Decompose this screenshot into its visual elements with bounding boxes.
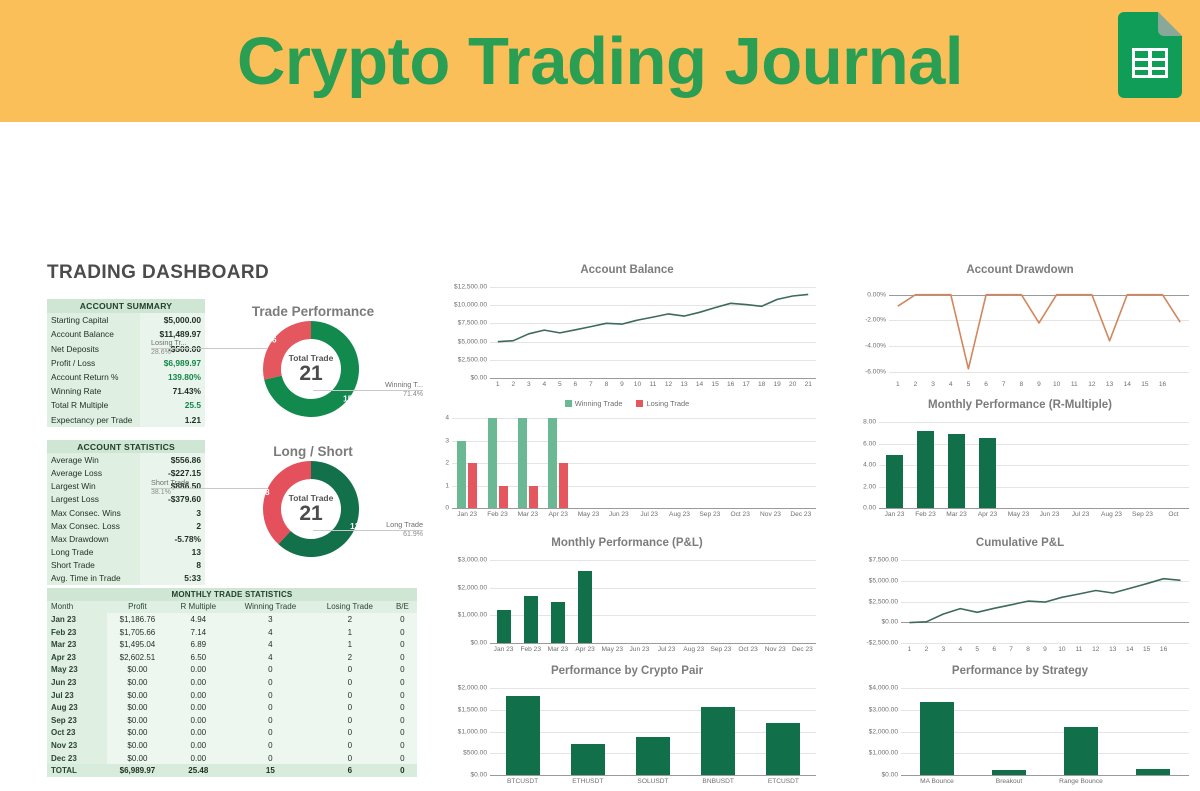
x-axis-label: 6 [984,381,988,388]
table-cell: $0.00 [107,664,168,677]
table-cell: 0.00 [168,689,229,702]
x-axis-label: May 23 [601,646,623,653]
table-cell: 0 [312,739,388,752]
table-row: May 23$0.000.00000 [47,664,417,677]
table-row: Nov 23$0.000.00000 [47,739,417,752]
chart-title: Monthly Performance (R-Multiple) [845,399,1195,411]
plot-area: $0.00$1,000.00$2,000.00$3,000.00Jan 23Fe… [490,560,816,643]
y-axis-label: $4,000.00 [869,685,901,692]
donut-chart: 156 Total Trade 21 [263,321,359,417]
row-value: $6,989.97 [140,356,205,370]
x-axis-label: 9 [620,381,624,388]
long-short-donut: Long / Short 138 Total Trade 21 Short Tr… [213,444,413,557]
row-label: Average Loss [47,466,140,479]
y-axis-label: 6.00 [863,440,879,447]
trade-performance-donut: Trade Performance 156 Total Trade 21 Los… [213,304,413,417]
x-axis-label: Dec 23 [792,646,813,653]
table-cell: Oct 23 [47,727,107,740]
y-axis-label: 4 [445,415,452,422]
gridline [452,508,816,509]
table-cell: Jul 23 [47,689,107,702]
table-cell: 0 [312,664,388,677]
x-axis-label: 20 [789,381,796,388]
bar [518,418,527,508]
plot-area: 01234Jan 23Feb 23Mar 23Apr 23May 23Jun 2… [452,418,816,508]
x-axis-label: Aug 23 [683,646,704,653]
total-cell: 6 [312,764,388,777]
table-cell: 6.50 [168,651,229,664]
row-label: Average Win [47,453,140,466]
table-cell: 7.14 [168,626,229,639]
x-axis-label: Range Bounce [1059,778,1103,785]
table-row: Total R Multiple 25.5 [47,398,205,412]
table-total-row: TOTAL$6,989.9725.481560 [47,764,417,777]
total-cell: 25.48 [168,764,229,777]
x-axis-label: 8 [1020,381,1024,388]
table-cell: Aug 23 [47,701,107,714]
x-axis-label: 15 [1143,646,1150,653]
table-title-row: ACCOUNT STATISTICS [47,440,205,453]
table-row: Long Trade 13 [47,546,205,559]
table-cell: $0.00 [107,752,168,765]
x-axis-label: ETCUSDT [768,778,799,785]
x-axis-label: Apr 23 [548,511,567,518]
table-cell: $1,495.04 [107,638,168,651]
bar [920,702,954,775]
x-axis-label: Jan 23 [885,511,905,518]
dashboard-heading: TRADING DASHBOARD [47,262,269,284]
callout-percent: 71.4% [403,391,423,398]
table-row: Aug 23$0.000.00000 [47,701,417,714]
table-cell: 0 [229,701,312,714]
table-cell: 0 [312,714,388,727]
x-axis-label: Jan 23 [494,646,514,653]
x-axis-label: Sep 23 [710,646,731,653]
table-cell: 0.00 [168,739,229,752]
monthly-stats-body: MONTHLY TRADE STATISTICSMonthProfitR Mul… [47,588,417,777]
table-cell: 0.00 [168,701,229,714]
gridline [452,441,816,442]
chart-title: Trade Performance [213,304,413,319]
account-summary-title: ACCOUNT SUMMARY [47,299,205,313]
x-axis-label: 7 [589,381,593,388]
x-axis-label: Jul 23 [640,511,658,518]
x-axis-label: 5 [558,381,562,388]
table-cell: 0 [312,727,388,740]
table-cell: 0.00 [168,664,229,677]
table-cell: 0 [229,676,312,689]
x-axis-label: 7 [1009,646,1013,653]
table-row: Oct 23$0.000.00000 [47,727,417,740]
x-axis-label: BTCUSDT [507,778,538,785]
table-cell: $0.00 [107,676,168,689]
y-axis-label: 0 [445,505,452,512]
column-header: Winning Trade [229,601,312,614]
table-cell: $2,602.51 [107,651,168,664]
table-row: Max Drawdown -5.78% [47,532,205,545]
donut-center-value: 21 [299,503,322,525]
table-cell: May 23 [47,664,107,677]
x-axis-label: SOLUSDT [637,778,668,785]
row-label: Net Deposits [47,342,140,356]
table-cell: $1,186.76 [107,613,168,626]
legend-swatch [565,400,572,407]
bar [948,434,964,508]
y-axis-label: $1,000.00 [458,728,490,735]
row-value: 8 [140,559,205,572]
y-axis-label: $5,000.00 [869,577,901,584]
gridline [490,775,816,776]
table-row: Expectancy per Trade 1.21 [47,413,205,427]
y-axis-label: $0.00 [470,772,490,779]
x-axis-label: 3 [931,381,935,388]
x-axis-label: 14 [1124,381,1131,388]
bar [636,737,670,775]
table-cell: 0 [312,701,388,714]
row-label: Max Consec. Loss [47,519,140,532]
header-banner: Crypto Trading Journal [0,0,1200,122]
bar [457,441,466,509]
x-axis-label: Aug 23 [669,511,690,518]
donut-callout-left: Losing Tr... 28.6% [151,338,209,358]
y-axis-label: 3 [445,437,452,444]
table-cell: 1 [312,638,388,651]
y-axis-label: $5,000.00 [458,338,490,345]
row-label: Max Consec. Wins [47,506,140,519]
row-label: Account Balance [47,327,140,341]
x-axis-label: May 23 [578,511,600,518]
x-axis-label: Mar 23 [548,646,569,653]
table-cell: 0 [388,626,417,639]
callout-leader-line [313,390,363,391]
x-axis-label: Oct 23 [730,511,749,518]
gridline [901,643,1189,644]
y-axis-label: $1,000.00 [458,612,490,619]
x-axis-label: 13 [1106,381,1113,388]
y-axis-label: $2,500.00 [869,598,901,605]
x-axis-label: Jul 23 [1072,511,1090,518]
x-axis-label: 1 [496,381,500,388]
table-row: Feb 23$1,705.667.14410 [47,626,417,639]
monthly-stats-title: MONTHLY TRADE STATISTICS [47,588,417,601]
legend-item: Winning Trade [565,399,623,408]
y-axis-label: $10,000.00 [454,302,490,309]
row-value: 25.5 [140,398,205,412]
row-value: 1.21 [140,413,205,427]
y-axis-label: $0.00 [470,375,490,382]
bar [917,431,933,508]
table-cell: 0 [388,701,417,714]
table-cell: 0.00 [168,752,229,765]
table-cell: Dec 23 [47,752,107,765]
y-axis-label: $3,000.00 [869,706,901,713]
cumulative-pl-chart: Cumulative P&L-$2,500.00$0.00$2,500.00$5… [845,537,1195,659]
chart-title: Performance by Crypto Pair [432,665,822,677]
table-cell: 2 [312,651,388,664]
row-value: 71.43% [140,384,205,398]
donut-center: Total Trade 21 [263,321,359,417]
gridline [490,588,816,589]
y-axis-label: -6.00% [865,368,889,375]
x-axis-label: 16 [727,381,734,388]
plot-area: 0.002.004.006.008.00Jan 23Feb 23Mar 23Ap… [879,422,1189,508]
x-axis-label: MA Bounce [920,778,954,785]
callout-leader-line [313,530,363,531]
y-axis-label: $0.00 [881,772,901,779]
table-cell: 0 [229,727,312,740]
x-axis-label: Mar 23 [946,511,967,518]
plot-area: -$2,500.00$0.00$2,500.00$5,000.00$7,500.… [901,560,1189,643]
monthly-performance-pl-chart: Monthly Performance (P&L)$0.00$1,000.00$… [432,537,822,659]
bar [886,455,902,508]
x-axis-label: Dec 23 [790,511,811,518]
donut-callout-right: Winning T... 71.4% [361,380,423,400]
bar [506,696,540,775]
table-row: Mar 23$1,495.046.89410 [47,638,417,651]
x-axis-label: 10 [1058,646,1065,653]
account-summary-table: ACCOUNT SUMMARY Starting Capital $5,000.… [47,299,205,427]
table-cell: Feb 23 [47,626,107,639]
monthly-performance-r-chart: Monthly Performance (R-Multiple)0.002.00… [845,399,1195,524]
y-axis-label: 4.00 [863,462,879,469]
table-row: Apr 23$2,602.516.50420 [47,651,417,664]
row-label: Starting Capital [47,313,140,327]
table-cell: 4 [229,638,312,651]
y-axis-label: $2,000.00 [869,728,901,735]
column-header: B/E [388,601,417,614]
table-cell: 0 [388,651,417,664]
x-axis-label: Feb 23 [520,646,541,653]
callout-label: Losing Tr... [151,338,209,349]
x-axis-label: Breakout [996,778,1022,785]
table-cell: 4.94 [168,613,229,626]
gridline [879,422,1189,423]
x-axis-label: Sep 23 [699,511,720,518]
legend-swatch [636,400,643,407]
table-row: Average Win $556.86 [47,453,205,466]
x-axis-label: Mar 23 [518,511,539,518]
bar [578,571,592,643]
x-axis-label: 15 [1141,381,1148,388]
x-axis-label: 6 [992,646,996,653]
x-axis-label: 16 [1160,646,1167,653]
table-cell: 0.00 [168,727,229,740]
table-cell: $0.00 [107,689,168,702]
line-series [901,560,1189,643]
chart-title: Account Drawdown [845,264,1195,276]
callout-leader-line [209,348,267,349]
table-cell: 0 [312,676,388,689]
table-row: Jan 23$1,186.764.94320 [47,613,417,626]
legend-item: Losing Trade [636,399,689,408]
y-axis-label: 2.00 [863,483,879,490]
row-label: Total R Multiple [47,398,140,412]
google-sheets-icon [1118,12,1182,98]
y-axis-label: -2.00% [865,317,889,324]
x-axis-label: 10 [1053,381,1060,388]
bar [1136,769,1170,775]
row-label: Account Return % [47,370,140,384]
x-axis-label: May 23 [1008,511,1030,518]
account-statistics-body: ACCOUNT STATISTICS Average Win $556.86 A… [47,440,205,585]
table-cell: $1,705.66 [107,626,168,639]
row-label: Winning Rate [47,384,140,398]
gridline [452,418,816,419]
callout-label: Winning T... [361,380,423,391]
y-axis-label: $2,500.00 [458,356,490,363]
table-cell: 1 [312,626,388,639]
y-axis-label: $500.00 [463,750,490,757]
table-cell: 0 [388,664,417,677]
table-cell: 0.00 [168,714,229,727]
x-axis-label: 11 [650,381,657,388]
line-series [490,287,816,378]
x-axis-label: Feb 23 [915,511,936,518]
x-axis-label: Oct 23 [738,646,757,653]
table-cell: Jan 23 [47,613,107,626]
y-axis-label: $7,500.00 [458,320,490,327]
donut-center: Total Trade 21 [263,461,359,557]
row-value: 139.80% [140,370,205,384]
x-axis-label: 8 [1026,646,1030,653]
row-label: Avg. Time in Trade [47,572,140,585]
x-axis-label: 3 [942,646,946,653]
account-balance-chart: Account Balance$0.00$2,500.00$5,000.00$7… [432,264,822,394]
bar [529,486,538,509]
table-row: Dec 23$0.000.00000 [47,752,417,765]
table-cell: 0 [312,689,388,702]
gridline [452,463,816,464]
x-axis-label: Jun 23 [609,511,629,518]
plot-area: $0.00$1,000.00$2,000.00$3,000.00$4,000.0… [901,688,1189,775]
chart-legend: Winning TradeLosing Trade [432,399,822,408]
column-header: R Multiple [168,601,229,614]
x-axis-label: 18 [758,381,765,388]
table-cell: 0 [388,727,417,740]
gridline [490,688,816,689]
x-axis-label: 21 [805,381,812,388]
gridline [901,688,1189,689]
row-value: -5.78% [140,532,205,545]
bar [979,438,995,508]
bar [488,418,497,508]
y-axis-label: $1,500.00 [458,706,490,713]
table-row: Max Consec. Wins 3 [47,506,205,519]
performance-by-crypto-pair-chart: Performance by Crypto Pair$0.00$500.00$1… [432,665,822,791]
y-axis-label: $2,000.00 [458,584,490,591]
gridline [490,643,816,644]
chart-title: Account Balance [432,264,822,276]
bar [701,707,735,775]
x-axis-label: 14 [1126,646,1133,653]
row-label: Short Trade [47,559,140,572]
x-axis-label: 2 [914,381,918,388]
x-axis-label: 8 [605,381,609,388]
x-axis-label: Aug 23 [1101,511,1122,518]
table-cell: 6.89 [168,638,229,651]
y-axis-label: 0.00% [867,291,889,298]
table-cell: 2 [312,613,388,626]
y-axis-label: 0.00 [863,505,879,512]
bar [548,418,557,508]
x-axis-label: Oct [1168,511,1178,518]
x-axis-label: Feb 23 [487,511,508,518]
bar [499,486,508,509]
bar [571,744,605,775]
table-cell: 3 [229,613,312,626]
row-label: Largest Win [47,480,140,493]
x-axis-label: Jun 23 [630,646,650,653]
table-row: Sep 23$0.000.00000 [47,714,417,727]
x-axis-label: 4 [949,381,953,388]
table-cell: 0 [229,714,312,727]
table-row: Winning Rate 71.43% [47,384,205,398]
table-cell: 0 [229,739,312,752]
y-axis-label: $2,000.00 [458,685,490,692]
donut-center-value: 21 [299,363,322,385]
y-axis-label: $12,500.00 [454,284,490,291]
row-label: Expectancy per Trade [47,413,140,427]
x-axis-label: 12 [1092,646,1099,653]
account-statistics-table: ACCOUNT STATISTICS Average Win $556.86 A… [47,440,205,585]
x-axis-label: 9 [1037,381,1041,388]
table-cell: Jun 23 [47,676,107,689]
row-value: $5,000.00 [140,313,205,327]
row-value: 5:33 [140,572,205,585]
gridline [901,775,1189,776]
column-header: Month [47,601,107,614]
monthly-trade-count-chart: Winning TradeLosing Trade01234Jan 23Feb … [432,399,822,524]
table-cell: 0 [229,664,312,677]
x-axis-label: Jun 23 [1040,511,1060,518]
bar [551,602,565,643]
plot-area: $0.00$2,500.00$5,000.00$7,500.00$10,000.… [490,287,816,378]
table-row: Jul 23$0.000.00000 [47,689,417,702]
account-statistics-title: ACCOUNT STATISTICS [47,440,205,453]
x-axis-label: 2 [511,381,515,388]
callout-label: Long Trade [361,520,423,531]
bar [497,610,511,643]
x-axis-label: 6 [574,381,578,388]
table-cell: 0 [388,613,417,626]
table-cell: 0 [312,752,388,765]
monthly-trade-statistics-table: MONTHLY TRADE STATISTICSMonthProfitR Mul… [47,588,417,777]
table-row: Starting Capital $5,000.00 [47,313,205,327]
donut-chart: 138 Total Trade 21 [263,461,359,557]
x-axis-label: 7 [1002,381,1006,388]
table-cell: Nov 23 [47,739,107,752]
x-axis-label: 16 [1159,381,1166,388]
plot-area: 0.00%-2.00%-4.00%-6.00% 1234567891011121… [889,287,1189,378]
table-row: Jun 23$0.000.00000 [47,676,417,689]
performance-by-strategy-chart: Performance by Strategy$0.00$1,000.00$2,… [845,665,1195,791]
table-cell: 0 [229,689,312,702]
y-axis-label: $0.00 [881,619,901,626]
dashboard-board: TRADING DASHBOARD ACCOUNT SUMMARY Starti… [0,122,1200,675]
table-cell: $0.00 [107,727,168,740]
table-cell: 0 [229,752,312,765]
chart-title: Performance by Strategy [845,665,1195,677]
table-cell: 4 [229,626,312,639]
table-title-row: ACCOUNT SUMMARY [47,299,205,313]
table-cell: 0 [388,676,417,689]
table-cell: 0 [388,739,417,752]
bar [524,596,538,643]
y-axis-label: $1,000.00 [869,750,901,757]
x-axis-label: 1 [908,646,912,653]
x-axis-label: Nov 23 [760,511,781,518]
x-axis-label: Nov 23 [765,646,786,653]
